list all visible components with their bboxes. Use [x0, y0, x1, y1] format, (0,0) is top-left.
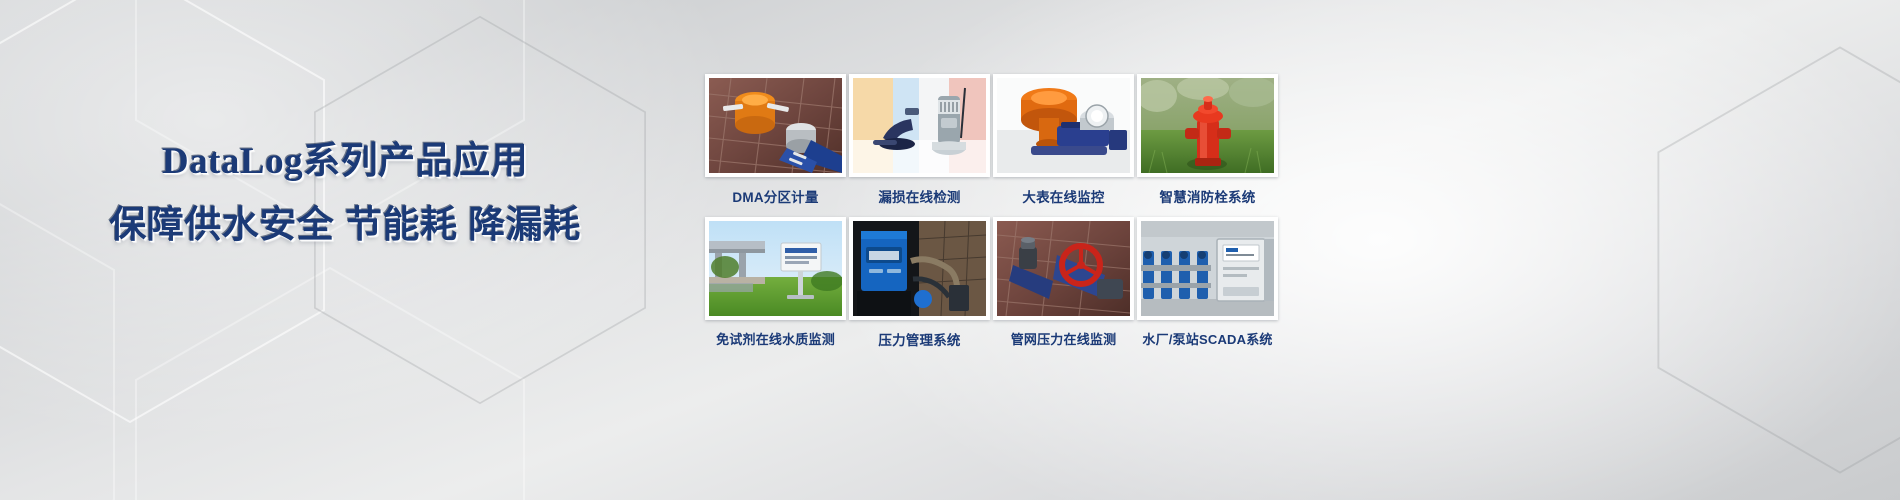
large-meter-monitoring-photo[interactable] — [993, 74, 1134, 177]
product-card-large-meter-monitoring[interactable]: 大表在线监控 — [993, 74, 1134, 214]
leak-detection-logger-photo[interactable] — [849, 74, 990, 177]
pressure-management-system-photo[interactable] — [849, 217, 990, 320]
product-card-water-quality[interactable]: 免试剂在线水质监测 — [705, 217, 846, 357]
product-card-scada-system[interactable]: 水厂/泵站SCADA系统 — [1137, 217, 1278, 357]
product-caption: 漏损在线检测 — [849, 186, 990, 206]
product-caption: 智慧消防栓系统 — [1137, 186, 1278, 206]
pipe-network-pressure-monitoring-photo[interactable] — [993, 217, 1134, 320]
dma-flow-meter-manhole-photo[interactable] — [705, 74, 846, 177]
smart-fire-hydrant-photo[interactable] — [1137, 74, 1278, 177]
product-card-pressure-management[interactable]: 压力管理系统 — [849, 217, 990, 357]
headline-primary: DataLog系列产品应用 — [0, 143, 690, 180]
product-caption: 大表在线监控 — [993, 186, 1134, 206]
product-card-smart-hydrant[interactable]: 智慧消防栓系统 — [1137, 74, 1278, 214]
product-card-pipe-pressure-monitoring[interactable]: 管网压力在线监测 — [993, 217, 1134, 357]
headline-secondary: 保障供水安全 节能耗 降漏耗 — [0, 206, 690, 243]
product-card-leak-detection[interactable]: 漏损在线检测 — [849, 74, 990, 214]
reagent-free-water-quality-station-photo[interactable] — [705, 217, 846, 320]
hexagon-watermark-right-edge-icon — [1640, 40, 1900, 480]
waterworks-pump-station-scada-photo[interactable] — [1137, 217, 1278, 320]
product-caption: 免试剂在线水质监测 — [705, 329, 846, 348]
hexagon-watermark-lower-icon — [120, 260, 540, 500]
product-caption: DMA分区计量 — [705, 186, 846, 206]
product-card-dma-metering[interactable]: DMA分区计量 — [705, 74, 846, 214]
product-thumbnail-grid: DMA分区计量 — [705, 74, 1278, 357]
product-caption: 水厂/泵站SCADA系统 — [1137, 329, 1278, 348]
product-caption: 管网压力在线监测 — [993, 329, 1134, 348]
promo-banner: DataLog系列产品应用 保障供水安全 节能耗 降漏耗 — [0, 0, 1900, 500]
product-caption: 压力管理系统 — [849, 329, 990, 349]
headline-block: DataLog系列产品应用 保障供水安全 节能耗 降漏耗 — [0, 143, 690, 243]
